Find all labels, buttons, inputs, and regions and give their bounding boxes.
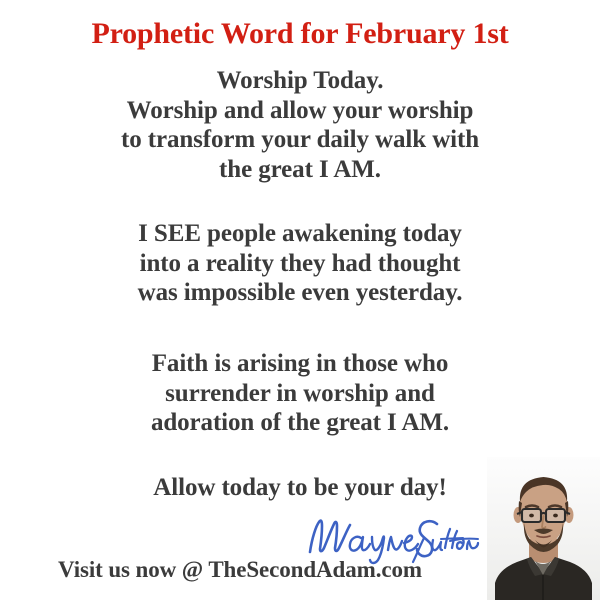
stanza-line: surrender in worship and <box>0 379 600 409</box>
stanza-i-see: I SEE people awakening today into a real… <box>0 219 600 308</box>
stanza-worship: Worship Today. Worship and allow your wo… <box>0 66 600 184</box>
stanza-line: I SEE people awakening today <box>0 219 600 249</box>
page-title: Prophetic Word for February 1st <box>0 17 600 51</box>
footer-website[interactable]: Visit us now @ TheSecondAdam.com <box>0 557 480 583</box>
portrait-photo <box>487 457 600 600</box>
prophetic-word-poster: Prophetic Word for February 1st Worship … <box>0 0 600 600</box>
stanza-line: Worship and allow your worship <box>0 96 600 126</box>
stanza-line: was impossible even yesterday. <box>0 278 600 308</box>
stanza-line: into a reality they had thought <box>0 249 600 279</box>
stanza-line: adoration of the great I AM. <box>0 408 600 438</box>
stanza-line: the great I AM. <box>0 155 600 185</box>
stanza-line: to transform your daily walk with <box>0 125 600 155</box>
stanza-line: Worship Today. <box>0 66 600 96</box>
stanza-line: Faith is arising in those who <box>0 349 600 379</box>
stanza-faith: Faith is arising in those who surrender … <box>0 349 600 438</box>
